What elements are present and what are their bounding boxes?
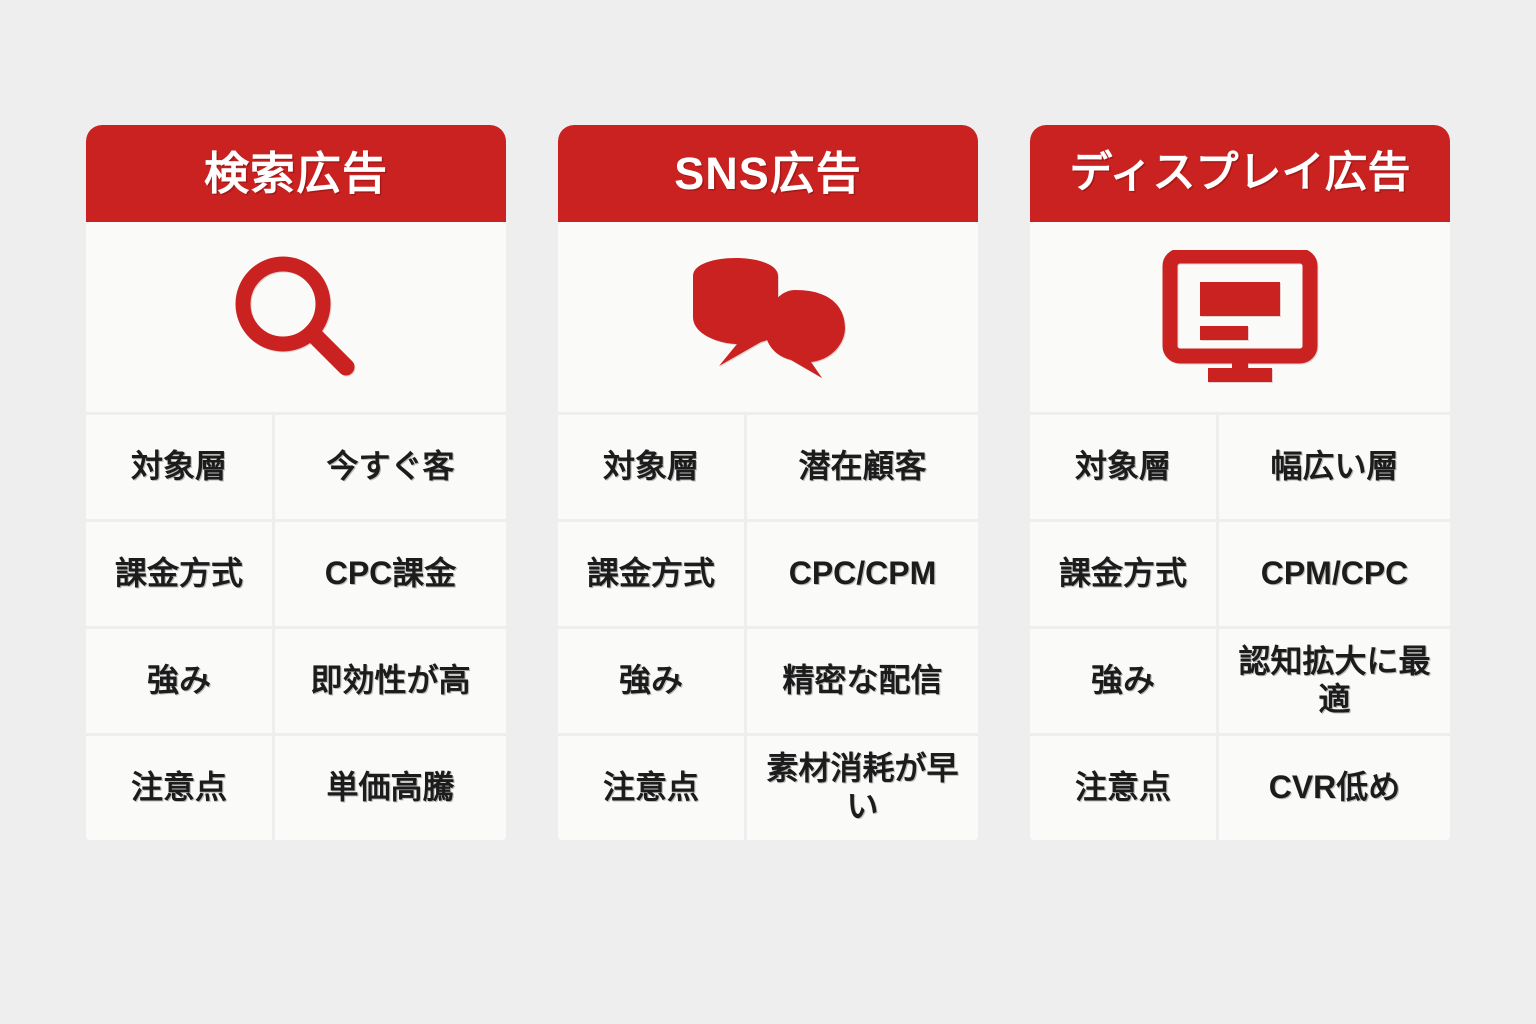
spec-value: CPC課金 [275, 522, 506, 626]
spec-table-sns: 対象層 潜在顧客 課金方式 CPC/CPM 強み 精密な配信 注意点 素材消耗が… [558, 415, 978, 840]
card-header-display: ディスプレイ広告 [1030, 125, 1450, 222]
table-row: 注意点 CVR低め [1030, 736, 1450, 840]
spec-value: 素材消耗が早い [747, 736, 978, 840]
table-row: 強み 認知拡大に最適 [1030, 629, 1450, 733]
spec-label: 強み [1030, 629, 1216, 733]
table-row: 強み 即効性が高 [86, 629, 506, 733]
table-row: 対象層 今すぐ客 [86, 415, 506, 519]
spec-value: CVR低め [1219, 736, 1450, 840]
table-row: 課金方式 CPC課金 [86, 522, 506, 626]
icon-panel-display [1030, 222, 1450, 412]
spec-value: 単価高騰 [275, 736, 506, 840]
icon-panel-search [86, 222, 506, 412]
spec-label: 課金方式 [558, 522, 744, 626]
spec-label: 課金方式 [1030, 522, 1216, 626]
card-header-sns: SNS広告 [558, 125, 978, 222]
table-row: 注意点 素材消耗が早い [558, 736, 978, 840]
spec-label: 注意点 [558, 736, 744, 840]
icon-panel-sns [558, 222, 978, 412]
card-title-search: 検索広告 [204, 151, 388, 196]
spec-value: 潜在顧客 [747, 415, 978, 519]
spec-label: 対象層 [86, 415, 272, 519]
card-title-sns: SNS広告 [674, 151, 862, 196]
spec-table-display: 対象層 幅広い層 課金方式 CPM/CPC 強み 認知拡大に最適 注意点 CVR… [1030, 415, 1450, 840]
table-row: 対象層 潜在顧客 [558, 415, 978, 519]
spec-value: CPM/CPC [1219, 522, 1450, 626]
spec-label: 強み [558, 629, 744, 733]
spec-label: 対象層 [558, 415, 744, 519]
spec-value: 精密な配信 [747, 629, 978, 733]
monitor-icon [1160, 250, 1320, 385]
table-row: 注意点 単価高騰 [86, 736, 506, 840]
table-row: 対象層 幅広い層 [1030, 415, 1450, 519]
spec-label: 強み [86, 629, 272, 733]
ad-type-card-search[interactable]: 検索広告 対象層 今すぐ客 課金方式 CPC課金 [86, 125, 506, 840]
speech-bubbles-icon [683, 252, 853, 382]
card-title-display: ディスプレイ広告 [1070, 152, 1411, 195]
spec-label: 注意点 [1030, 736, 1216, 840]
comparison-board: 検索広告 対象層 今すぐ客 課金方式 CPC課金 [0, 0, 1536, 1024]
spec-value: 認知拡大に最適 [1219, 629, 1450, 733]
spec-label: 対象層 [1030, 415, 1216, 519]
card-header-search: 検索広告 [86, 125, 506, 222]
spec-value: 即効性が高 [275, 629, 506, 733]
ad-type-card-display[interactable]: ディスプレイ広告 対象層 幅広い層 [1030, 125, 1450, 840]
table-row: 課金方式 CPC/CPM [558, 522, 978, 626]
spec-label: 課金方式 [86, 522, 272, 626]
ad-type-card-sns[interactable]: SNS広告 対象層 潜在顧客 課金方式 CPC/CPM [558, 125, 978, 840]
magnifier-icon [226, 252, 366, 382]
spec-table-search: 対象層 今すぐ客 課金方式 CPC課金 強み 即効性が高 注意点 単価高騰 [86, 415, 506, 840]
table-row: 強み 精密な配信 [558, 629, 978, 733]
table-row: 課金方式 CPM/CPC [1030, 522, 1450, 626]
ad-type-cards-row: 検索広告 対象層 今すぐ客 課金方式 CPC課金 [86, 125, 1450, 840]
spec-label: 注意点 [86, 736, 272, 840]
spec-value: CPC/CPM [747, 522, 978, 626]
spec-value: 幅広い層 [1219, 415, 1450, 519]
spec-value: 今すぐ客 [275, 415, 506, 519]
